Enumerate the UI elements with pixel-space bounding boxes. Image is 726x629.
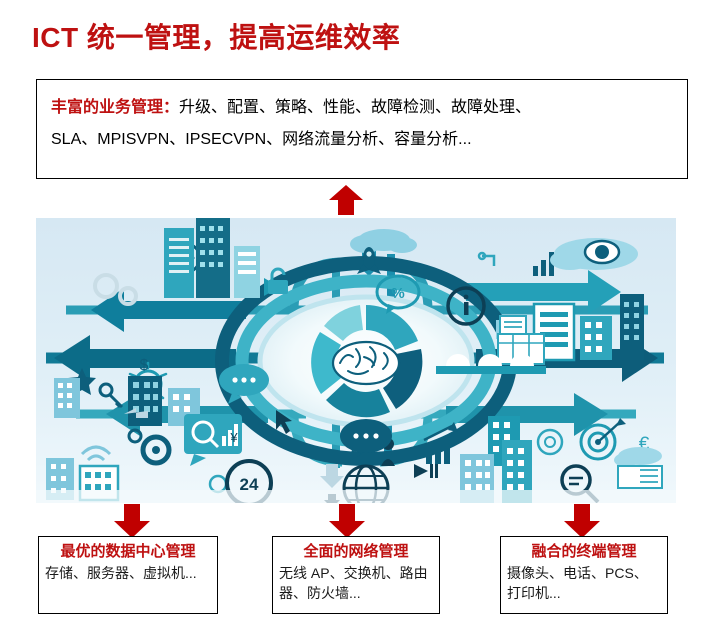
bridge-icon — [436, 354, 546, 374]
services-callout-text: 丰富的业务管理：升级、配置、策略、性能、故障检测、故障处理、 SLA、MPISV… — [37, 80, 687, 156]
network-management-title: 全面的网络管理 — [273, 543, 439, 561]
terminal-management-title: 融合的终端管理 — [501, 543, 667, 561]
percent-label: % — [391, 285, 404, 302]
dollar-label: $ — [140, 357, 149, 374]
services-callout-line1: 升级、配置、策略、性能、故障检测、故障处理、 — [179, 99, 531, 116]
brain-icon — [333, 342, 399, 384]
center-donut — [311, 305, 422, 417]
ict-hub-illustration: % — [36, 218, 676, 503]
datacenter-management-box: 最优的数据中心管理 存储、服务器、虚拟机... — [38, 536, 218, 614]
terminal-management-body: 摄像头、电话、PCS、打印机... — [507, 563, 661, 603]
hub-diagram-svg: % — [36, 218, 676, 503]
datacenter-management-body: 存储、服务器、虚拟机... — [45, 563, 211, 583]
network-management-box: 全面的网络管理 无线 AP、交换机、路由器、防火墙... — [272, 536, 440, 614]
page-title: ICT 统一管理，提高运维效率 — [32, 16, 400, 56]
terminal-management-box: 融合的终端管理 摄像头、电话、PCS、打印机... — [500, 536, 668, 614]
network-management-body: 无线 AP、交换机、路由器、防火墙... — [279, 563, 433, 603]
datacenter-management-title: 最优的数据中心管理 — [39, 543, 217, 561]
cloud-doc-icon — [614, 447, 662, 488]
yen-label: ¥ — [229, 430, 238, 445]
services-callout-box: 丰富的业务管理：升级、配置、策略、性能、故障检测、故障处理、 SLA、MPISV… — [36, 79, 688, 179]
up-arrow-icon — [328, 184, 364, 221]
services-callout-keyword: 丰富的业务管理： — [51, 99, 179, 116]
services-callout-line2: SLA、MPISVPN、IPSECVPN、网络流量分析、容量分析... — [51, 131, 472, 148]
